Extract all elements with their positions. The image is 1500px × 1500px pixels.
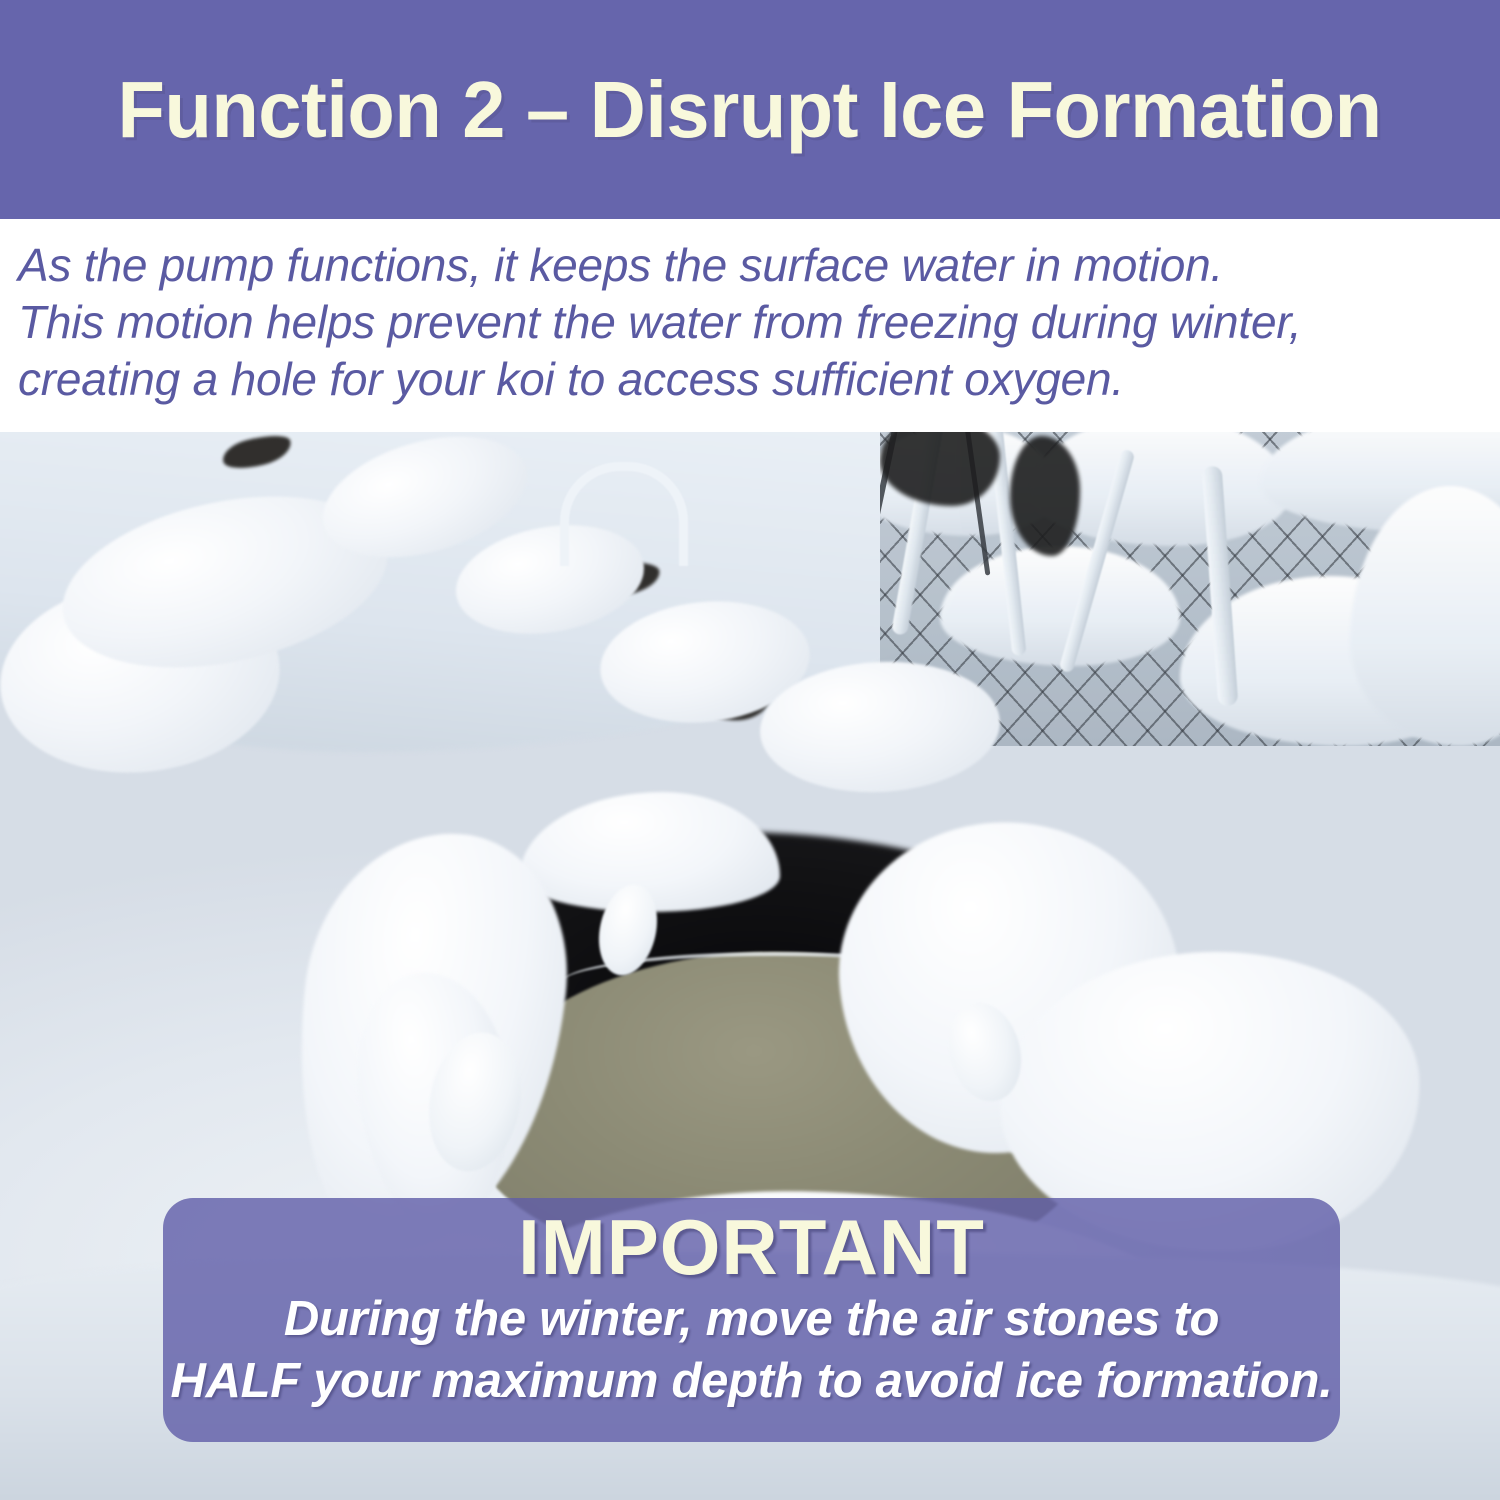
intro-line-2: This motion helps prevent the water from…	[18, 294, 1500, 351]
important-line-1: During the winter, move the air stones t…	[163, 1288, 1340, 1350]
important-line-2: HALF your maximum depth to avoid ice for…	[163, 1350, 1340, 1412]
infographic-slide: Function 2 – Disrupt Ice Formation As th…	[0, 0, 1500, 1500]
important-heading: IMPORTANT	[163, 1206, 1340, 1288]
important-callout: IMPORTANT During the winter, move the ai…	[163, 1198, 1340, 1442]
intro-line-3: creating a hole for your koi to access s…	[18, 351, 1500, 408]
intro-text-block: As the pump functions, it keeps the surf…	[0, 219, 1500, 432]
intro-line-1: As the pump functions, it keeps the surf…	[18, 237, 1500, 294]
header-band: Function 2 – Disrupt Ice Formation	[0, 0, 1500, 219]
page-title: Function 2 – Disrupt Ice Formation	[118, 70, 1382, 150]
wire-hoop	[560, 462, 688, 566]
